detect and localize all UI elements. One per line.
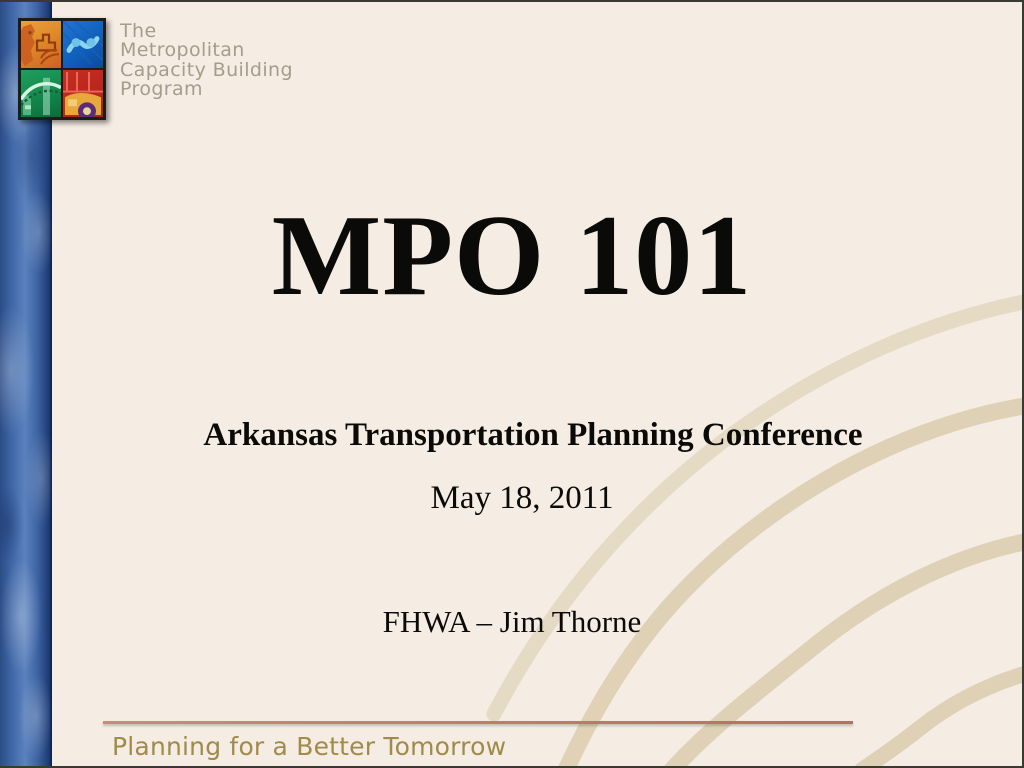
- footer-divider: [103, 721, 853, 724]
- logo-text-line-4: Program: [120, 80, 293, 99]
- conference-date: May 18, 2011: [52, 480, 992, 516]
- conference-name: Arkansas Transportation Planning Confere…: [52, 417, 1014, 453]
- bridge-tile: [21, 70, 61, 117]
- logo-block: The Metropolitan Capacity Building Progr…: [18, 18, 293, 120]
- transit-bus-tile: [63, 70, 103, 117]
- handshake-link-tile: [63, 21, 103, 68]
- presenter-name: FHWA – Jim Thorne: [52, 605, 972, 639]
- logo-wordmark: The Metropolitan Capacity Building Progr…: [120, 22, 293, 100]
- presentation-slide: MPO 101 Arkansas Transportation Planning…: [0, 0, 1024, 768]
- logo-text-line-2: Metropolitan: [120, 41, 293, 60]
- metropolitan-capacity-building-logo-icon: [18, 18, 106, 120]
- face-skyline-tile: [21, 21, 61, 68]
- page-title: MPO 101: [52, 198, 972, 314]
- footer-tagline: Planning for a Better Tomorrow: [112, 732, 506, 761]
